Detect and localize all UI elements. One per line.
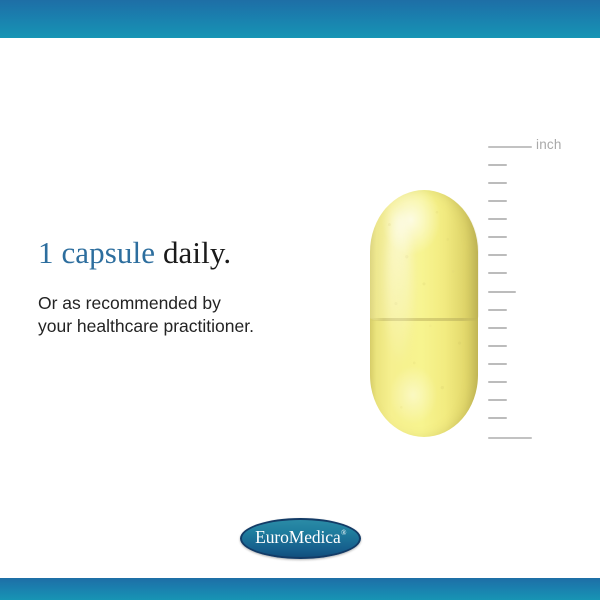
ruler-tick-short-14 (488, 399, 507, 401)
logo-oval: EuroMedica® (240, 518, 361, 559)
ruler-tick-long-16 (488, 437, 532, 439)
headline-rest: daily. (155, 235, 231, 270)
ruler-tick-medium-8 (488, 291, 516, 293)
top-band (0, 0, 600, 38)
capsule-image (370, 190, 478, 437)
page-title: 1 capsule daily. (38, 236, 338, 271)
ruler-tick-long-0 (488, 146, 532, 148)
product-instruction-card: 1 capsule daily. Or as recommended by yo… (0, 0, 600, 600)
ruler-tick-short-2 (488, 182, 507, 184)
ruler-tick-short-11 (488, 345, 507, 347)
brand-logo: EuroMedica® (240, 518, 361, 559)
capsule-shape (370, 190, 478, 437)
dosage-copy-block: 1 capsule daily. Or as recommended by yo… (38, 236, 338, 338)
ruler-tick-short-5 (488, 236, 507, 238)
ruler-unit-label: inch (536, 137, 562, 152)
ruler-tick-short-7 (488, 272, 507, 274)
ruler-tick-short-4 (488, 218, 507, 220)
dosage-subcopy: Or as recommended by your healthcare pra… (38, 271, 338, 338)
logo-wordmark: EuroMedica (255, 527, 341, 547)
registered-trademark-icon: ® (341, 529, 346, 537)
ruler-tick-short-1 (488, 164, 507, 166)
ruler-tick-short-10 (488, 327, 507, 329)
logo-text: EuroMedica® (255, 529, 346, 547)
inch-ruler: inch (488, 146, 532, 440)
subcopy-line-2: your healthcare practitioner. (38, 315, 338, 338)
ruler-tick-short-12 (488, 363, 507, 365)
ruler-tick-short-15 (488, 417, 507, 419)
ruler-tick-short-9 (488, 309, 507, 311)
bottom-band (0, 578, 600, 600)
capsule-highlight (386, 212, 412, 362)
ruler-tick-short-13 (488, 381, 507, 383)
headline-highlight: 1 capsule (38, 235, 155, 270)
ruler-tick-short-6 (488, 254, 507, 256)
subcopy-line-1: Or as recommended by (38, 292, 338, 315)
ruler-tick-short-3 (488, 200, 507, 202)
